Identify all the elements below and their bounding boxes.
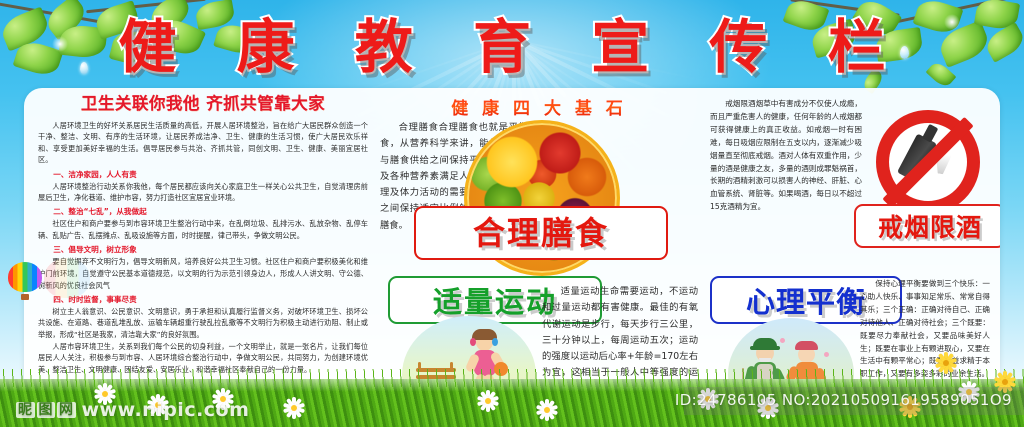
nosmoke-paragraph: 戒烟限酒烟草中有害成分不仅使人成瘾，而且严重危害人的健康，任何年龄的人戒烟都可获… — [710, 98, 862, 214]
daisy-center — [291, 405, 297, 411]
daisy-center — [1002, 379, 1008, 385]
daisy-flower-icon — [540, 403, 554, 417]
site-watermark: 昵 图 网 www.nipic.com — [16, 399, 249, 421]
daisy-center — [102, 391, 108, 397]
column-left-hygiene: 卫生关联你我他 齐抓共管靠大家 人居环境卫生的好坏关系居民生活质量的高低，开展人… — [38, 88, 368, 388]
badge-quit-smoking-limit-alcohol: 戒烟限酒 — [854, 204, 1000, 248]
daisy-center — [943, 360, 949, 366]
left-section-3-title: 三、倡导文明，树立形象 — [38, 244, 368, 255]
left-section-1-title: 一、洁净家园，人人有责 — [38, 169, 368, 180]
health-education-poster: 健 康 教 育 宣 传 栏 卫生关联你我他 齐抓共管靠大家 人居环境卫生的好坏关… — [0, 0, 1024, 427]
left-column-heading: 卫生关联你我他 齐抓共管靠大家 — [38, 96, 368, 113]
daisy-center — [485, 398, 491, 404]
site-watermark-char: 图 — [37, 402, 56, 419]
daisy-flower-icon — [934, 351, 958, 375]
left-section-1-body: 人居环境整治行动关系你我他，每个居民都应该向关心家庭卫生一样关心公共卫生，自觉清… — [38, 181, 368, 204]
page-title: 健 康 教 育 宣 传 栏 — [0, 18, 1024, 76]
daisy-flower-icon — [286, 400, 301, 415]
hot-air-balloon-icon-faded — [44, 258, 90, 310]
id-watermark: ID:24786105 NO:202105091619589051O9 — [675, 391, 1012, 409]
site-watermark-char: 昵 — [16, 402, 35, 419]
site-watermark-char: 网 — [57, 402, 76, 419]
content-panel: 卫生关联你我他 齐抓共管靠大家 人居环境卫生的好坏关系居民生活质量的高低，开展人… — [24, 88, 1000, 388]
badge-balanced-diet: 合理膳食 — [414, 206, 668, 260]
four-pillars-heading: 健 康 四 大 基 石 — [380, 94, 698, 119]
nosmoke-text-block: 戒烟限酒烟草中有害成分不仅使人成瘾，而且严重危害人的健康，任何年龄的人戒烟都可获… — [710, 98, 862, 214]
column-right-habits: 戒烟限酒烟草中有害成分不仅使人成瘾，而且严重危害人的健康，任何年龄的人戒烟都可获… — [710, 88, 990, 388]
mental-paragraph: 保持心理平衡要做到三个快乐：一心助人快乐、事事知足常乐、常常自得其乐；三个正确：… — [860, 278, 990, 381]
site-watermark-url: www.nipic.com — [82, 399, 250, 421]
column-middle-four-pillars: 健 康 四 大 基 石 合理膳食合理膳食也就是平衡膳食，从营养科学来讲，能使营养… — [380, 88, 698, 388]
daisy-center — [544, 407, 550, 413]
daisy-flower-icon — [480, 393, 496, 409]
left-section-2-title: 二、整治“七乱”，从我做起 — [38, 206, 368, 217]
left-intro-paragraph: 人居环境卫生的好坏关系居民生活质量的高低，开展人居环境整治，旨在给广大居民群众创… — [38, 120, 368, 167]
left-section-2-body: 社区住户和商户要参与到市容环境卫生整治行动中来，在乱倒垃圾、乱排污水、乱放杂物、… — [38, 218, 368, 241]
mental-text-block: 保持心理平衡要做到三个快乐：一心助人快乐、事事知足常乐、常常自得其乐；三个正确：… — [860, 278, 990, 381]
left-section-4-body: 树立主人翁意识、公民意识、文明意识，勇于承担和认真履行监督义务，对破坏环境卫生、… — [38, 306, 368, 341]
site-watermark-cn: 昵 图 网 — [16, 402, 76, 419]
hot-air-balloon-icon — [8, 262, 42, 302]
